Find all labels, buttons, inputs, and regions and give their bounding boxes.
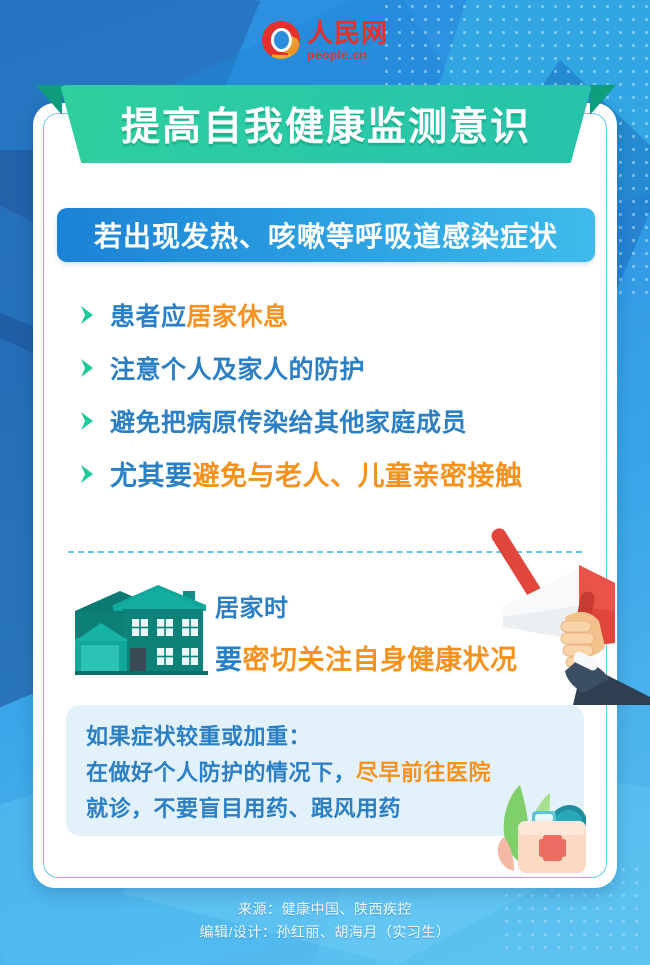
footer-credit: 编辑/设计：孙红丽、胡海月（实习生） [0,921,650,944]
poster: 人民网 people.cn 提高自我健康监测意识 若出现发热、咳嗽等呼吸道感染症… [0,0,650,965]
chevron-right-icon [76,303,100,327]
advice-list: 患者应居家休息 注意个人及家人的防护 避免把病原传染给其他家庭成员 尤其要避免与… [76,288,601,500]
page-title: 提高自我健康监测意识 [60,85,592,163]
chevron-right-icon [76,356,100,380]
logo-chinese-name: 人民网 [307,20,388,46]
home-advice-text: 居家时 要密切关注自身健康状况 [215,588,518,677]
list-item: 尤其要避免与老人、儿童亲密接触 [76,447,601,500]
home-advice-line1: 居家时 [215,588,518,623]
list-item-label: 尤其要避免与老人、儿童亲密接触 [110,454,523,493]
footer-source: 来源：健康中国、陕西疾控 [0,898,650,921]
site-logo[interactable]: 人民网 people.cn [0,14,650,66]
title-ribbon: 提高自我健康监测意识 [60,85,592,163]
chevron-right-icon [76,462,100,486]
list-item-label: 患者应居家休息 [110,297,289,333]
list-item-label: 注意个人及家人的防护 [110,350,365,386]
subtitle-banner: 若出现发热、咳嗽等呼吸道感染症状 [57,208,595,262]
megaphone-icon [487,525,650,705]
list-item: 患者应居家休息 [76,288,601,341]
infobox-line1: 如果症状较重或加重： [86,719,564,755]
house-icon [75,583,208,678]
list-item-label: 避免把病原传染给其他家庭成员 [110,403,467,439]
list-item: 注意个人及家人的防护 [76,341,601,394]
list-item: 避免把病原传染给其他家庭成员 [76,394,601,447]
people-cn-globe-icon [262,21,300,59]
chevron-right-icon [76,409,100,433]
logo-english-name: people.cn [307,49,388,61]
home-advice-line2: 要密切关注自身健康状况 [215,638,518,677]
medical-kit-icon [488,783,600,883]
footer-credits: 来源：健康中国、陕西疾控 编辑/设计：孙红丽、胡海月（实习生） [0,898,650,944]
